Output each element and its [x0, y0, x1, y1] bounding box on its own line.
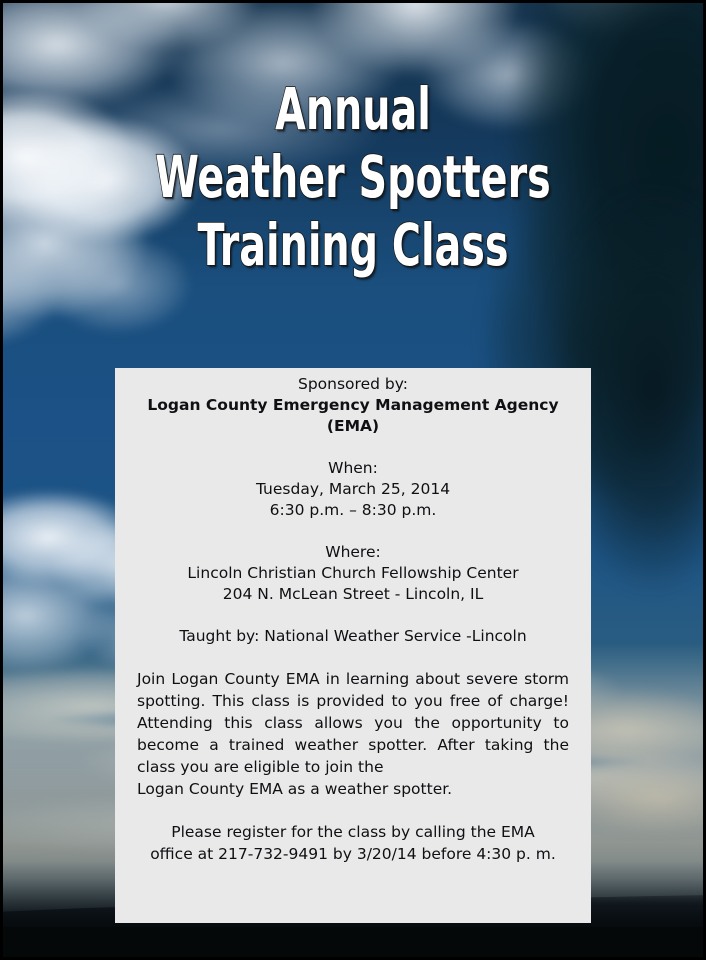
registration-line-2: office at 217-732-9491 by 3/20/14 before…	[137, 843, 569, 865]
body-paragraph-final-line: Logan County EMA as a weather spotter.	[137, 778, 569, 800]
weather-spotters-flyer: Annual Weather Spotters Training Class S…	[0, 0, 706, 960]
sponsor-organization-line-1: Logan County Emergency Management Agency	[137, 395, 569, 416]
page-title: Annual Weather Spotters Training Class	[3, 75, 703, 279]
where-label: Where:	[137, 542, 569, 563]
taught-by-line: Taught by: National Weather Service -Lin…	[137, 626, 569, 647]
title-line-1: Annual	[87, 75, 619, 143]
sponsored-by-label: Sponsored by:	[137, 374, 569, 395]
body-paragraph: Join Logan County EMA in learning about …	[137, 668, 569, 778]
event-address: 204 N. McLean Street - Lincoln, IL	[137, 584, 569, 605]
sponsor-organization-line-2: (EMA)	[137, 416, 569, 437]
spacer-after-sponsor	[137, 437, 569, 458]
registration-line-1: Please register for the class by calling…	[137, 821, 569, 843]
spacer-after-body	[137, 800, 569, 821]
when-label: When:	[137, 458, 569, 479]
event-date: Tuesday, March 25, 2014	[137, 479, 569, 500]
spacer-after-where	[137, 605, 569, 626]
spacer-after-when	[137, 521, 569, 542]
event-time: 6:30 p.m. – 8:30 p.m.	[137, 500, 569, 521]
title-line-2: Weather Spotters	[87, 143, 619, 211]
spacer-after-taught-by	[137, 647, 569, 668]
horizon-dark-foreground	[3, 927, 703, 957]
title-line-3: Training Class	[87, 211, 619, 279]
event-details-panel: Sponsored by: Logan County Emergency Man…	[115, 368, 591, 923]
event-venue: Lincoln Christian Church Fellowship Cent…	[137, 563, 569, 584]
